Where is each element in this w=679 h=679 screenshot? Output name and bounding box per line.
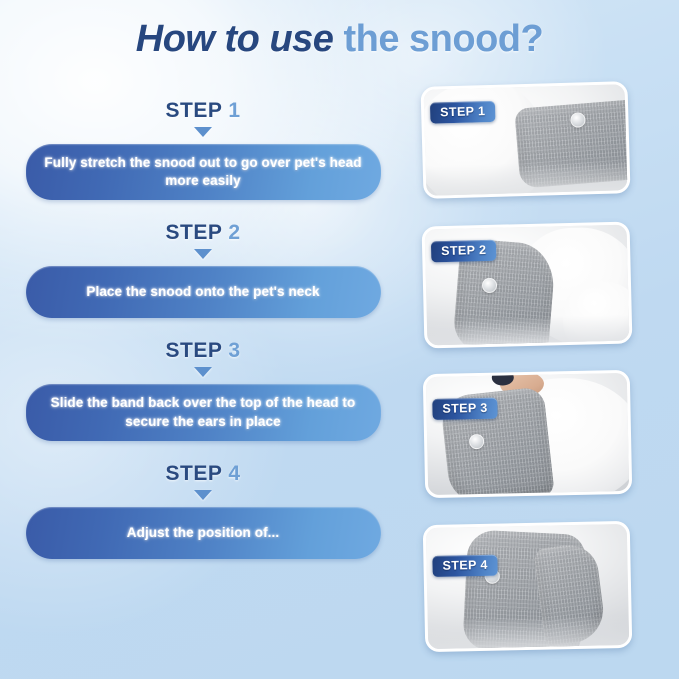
step-instruction-pill-2[interactable]: Place the snood onto the pet's neck [26, 266, 381, 318]
photo-badge-step-2: STEP 2 [431, 240, 497, 263]
down-triangle-arrow-icon-4 [194, 490, 212, 500]
step-label-number-4: 4 [228, 462, 240, 485]
photo-card-step-2[interactable]: STEP 2 [422, 221, 633, 348]
steps-column: STEP 1 Fully stretch the snood out to go… [0, 100, 406, 559]
step-instruction-text-3: Slide the band back over the top of the … [44, 394, 363, 430]
page-title-secondary: the snood? [343, 18, 543, 60]
step-instruction-pill-3[interactable]: Slide the band back over the top of the … [26, 384, 381, 440]
photo-badge-step-4: STEP 4 [432, 555, 498, 577]
infographic-poster: How to use the snood? STEP 1 Fully stret… [0, 0, 679, 679]
step-block-2: STEP 2 Place the snood onto the pet's ne… [0, 222, 406, 318]
step-label-word-2: STEP [166, 221, 222, 244]
down-triangle-arrow-icon-2 [194, 249, 212, 259]
step-label-4: STEP 4 [0, 463, 406, 484]
page-title-primary: How to use [136, 18, 344, 60]
step-block-1: STEP 1 Fully stretch the snood out to go… [0, 100, 406, 200]
photo-image-step-4 [426, 524, 629, 649]
step-instruction-text-2: Place the snood onto the pet's neck [86, 283, 319, 301]
step-instruction-pill-4[interactable]: Adjust the position of... [26, 507, 381, 559]
step-label-word-3: STEP [166, 339, 222, 362]
step-label-number-2: 2 [228, 221, 240, 244]
photo-surface-shadow-1 [426, 160, 628, 196]
photo-card-step-4[interactable]: STEP 4 [423, 521, 633, 652]
down-triangle-arrow-icon-1 [194, 127, 212, 137]
step-label-3: STEP 3 [0, 340, 406, 361]
photo-badge-step-1: STEP 1 [430, 101, 496, 124]
page-title: How to use the snood? [0, 18, 679, 61]
step-instruction-pill-1[interactable]: Fully stretch the snood out to go over p… [26, 144, 381, 200]
step-label-2: STEP 2 [0, 222, 406, 243]
photo-badge-step-3: STEP 3 [432, 398, 498, 420]
step-label-number-3: 3 [228, 339, 240, 362]
photo-image-step-1 [424, 84, 628, 196]
photo-surface-shadow-4 [428, 615, 630, 649]
step-label-word-4: STEP [166, 462, 222, 485]
photo-surface-shadow-2 [427, 315, 630, 346]
photo-card-step-3[interactable]: STEP 3 [423, 370, 633, 498]
photo-image-step-3 [426, 373, 629, 495]
step-block-3: STEP 3 Slide the band back over the top … [0, 340, 406, 440]
step-label-word-1: STEP [166, 99, 222, 122]
step-instruction-text-1: Fully stretch the snood out to go over p… [44, 154, 363, 190]
step-label-1: STEP 1 [0, 100, 406, 121]
down-triangle-arrow-icon-3 [194, 367, 212, 377]
step-block-4: STEP 4 Adjust the position of... [0, 463, 406, 559]
step-instruction-text-4: Adjust the position of... [127, 524, 279, 542]
photo-card-step-1[interactable]: STEP 1 [420, 81, 630, 199]
step-label-number-1: 1 [228, 99, 240, 122]
